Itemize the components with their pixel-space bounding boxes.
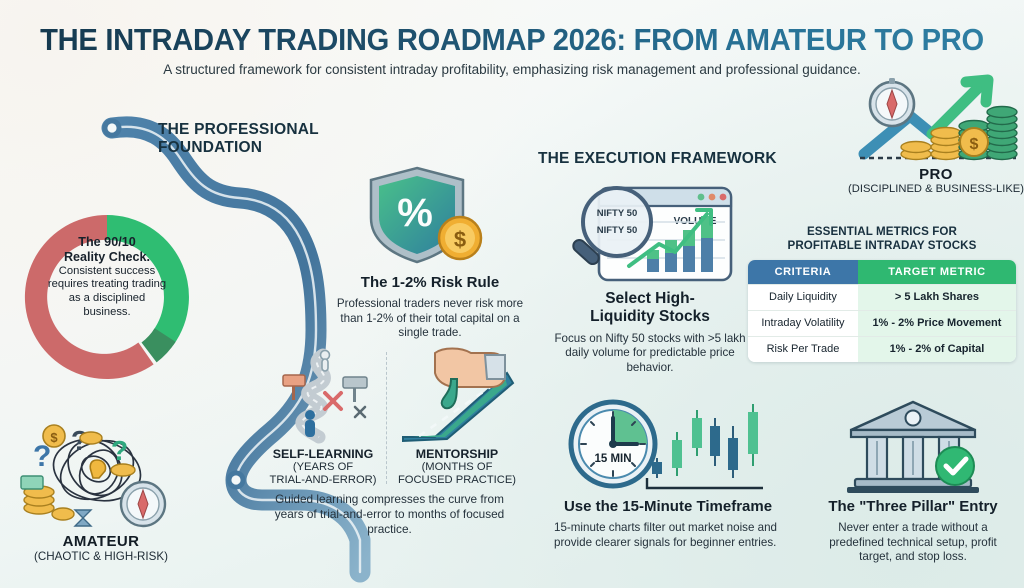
three-pillar-title: The "Three Pillar" Entry — [810, 498, 1016, 516]
reality-check-donut-chart: The 90/10 Reality Check. Consistent succ… — [12, 205, 202, 390]
dollar-glyph: $ — [454, 227, 466, 252]
three-pillar-body: Never enter a trade without a predefined… — [810, 521, 1016, 565]
metrics-table-heading: ESSENTIAL METRICS FOR PROFITABLE INTRADA… — [748, 225, 1016, 254]
clock-label: 15 MIN — [594, 453, 631, 465]
candlesticks — [652, 404, 758, 478]
maze-path-icon — [263, 345, 383, 445]
card-mentorship: MENTORSHIP (MONTHS OF FOCUSED PRACTICE) — [392, 345, 522, 488]
magnifier-chart-icon: VOLUME NIFTY 50 NIFTY 50 — [555, 178, 745, 288]
liquidity-title-line2: Liquidity Stocks — [540, 308, 760, 326]
cell-target: > 5 Lakh Shares — [858, 284, 1016, 310]
mentorship-sub-line2: FOCUSED PRACTICE) — [392, 474, 522, 487]
timeframe-body: 15-minute charts filter out market noise… — [548, 521, 788, 551]
infographic-canvas: THE INTRADAY TRADING ROADMAP 2026: FROM … — [0, 0, 1024, 588]
metrics-heading-line1: ESSENTIAL METRICS FOR — [748, 225, 1016, 239]
nifty-label-2: NIFTY 50 — [597, 225, 637, 236]
donut-center-text: The 90/10 Reality Check. Consistent succ… — [46, 235, 168, 319]
foundation-heading-line1: THE PROFESSIONAL — [158, 121, 358, 139]
coin-stack-green-2 — [987, 107, 1017, 160]
donut-title-line1: The 90/10 — [46, 235, 168, 250]
cell-criteria: Intraday Volatility — [748, 310, 858, 336]
liquidity-body: Focus on Nifty 50 stocks with >5 lakh da… — [540, 332, 760, 376]
coin-stack-icon — [24, 486, 54, 514]
guiding-hand-road-icon — [395, 345, 520, 445]
mentorship-sub: (MONTHS OF FOCUSED PRACTICE) — [392, 461, 522, 488]
clock-candlestick-icon: 15 MIN — [563, 396, 773, 496]
column-header-target: TARGET METRIC — [858, 260, 1016, 284]
cell-criteria: Daily Liquidity — [748, 284, 858, 310]
timeframe-title: Use the 15-Minute Timeframe — [548, 498, 788, 516]
table-row: Daily Liquidity > 5 Lakh Shares — [748, 284, 1016, 310]
stage-pro: $ PRO (DISCIPLINED & BUSINESS-LIKE) — [848, 72, 1024, 195]
growth-coins-compass-icon: $ — [848, 72, 1024, 168]
donut-title-line2: Reality Check. — [46, 250, 168, 265]
card-timeframe: 15 MIN Use the 15-Minute Timeframe 15-mi… — [548, 396, 788, 550]
card-three-pillar: The "Three Pillar" Entry Never enter a t… — [810, 396, 1016, 565]
card-self-learning: SELF-LEARNING (YEARS OF TRIAL-AND-ERROR) — [258, 345, 388, 488]
stage-amateur: ? ? ? $ AMATEUR (CHAOTIC & HIGH-RISK) — [6, 408, 196, 563]
pro-label: PRO — [848, 166, 1024, 183]
banknote-icon — [21, 476, 43, 489]
card-liquidity: VOLUME NIFTY 50 NIFTY 50 Select High- Li… — [540, 178, 760, 376]
risk-rule-body: Professional traders never risk more tha… — [322, 297, 538, 341]
hourglass-icon — [75, 510, 91, 518]
column-header-criteria: CRITERIA — [748, 260, 858, 284]
cell-target: 1% - 2% Price Movement — [858, 310, 1016, 336]
amateur-label: AMATEUR — [6, 533, 196, 550]
chaos-scribble-icon: ? ? ? $ — [11, 408, 191, 533]
bank-check-icon — [833, 396, 993, 496]
shield-percent-icon: % $ — [355, 160, 505, 270]
risk-rule-title: The 1-2% Risk Rule — [322, 274, 538, 292]
mentorship-sub-line1: (MONTHS OF — [392, 461, 522, 474]
magnifier-lens — [583, 188, 651, 256]
nifty-label-1: NIFTY 50 — [597, 208, 637, 219]
cell-target: 1% - 2% of Capital — [858, 336, 1016, 362]
card-risk-rule: % $ The 1-2% Risk Rule Professional trad… — [322, 160, 538, 341]
self-learning-label: SELF-LEARNING — [258, 447, 388, 461]
cell-criteria: Risk Per Trade — [748, 336, 858, 362]
coin-dollar-icon: $ — [50, 430, 58, 445]
self-learning-sub-line1: (YEARS OF — [258, 461, 388, 474]
section-heading-foundation: THE PROFESSIONAL FOUNDATION — [158, 121, 358, 158]
self-learning-sub: (YEARS OF TRIAL-AND-ERROR) — [258, 461, 388, 488]
check-badge-icon — [936, 447, 974, 485]
coin-dollar-icon: $ — [970, 136, 979, 153]
amateur-sublabel: (CHAOTIC & HIGH-RISK) — [6, 550, 196, 563]
coin-stack-small — [901, 142, 931, 160]
section-heading-execution: THE EXECUTION FRAMEWORK — [538, 150, 777, 168]
metrics-table: CRITERIA TARGET METRIC Daily Liquidity >… — [748, 260, 1016, 362]
metrics-heading-line2: PROFITABLE INTRADAY STOCKS — [748, 239, 1016, 253]
coin-stack-medium — [931, 128, 961, 160]
learning-divider — [386, 352, 387, 484]
donut-body: Consistent success requires treating tra… — [48, 265, 166, 318]
question-mark-icon: ? — [111, 435, 128, 466]
liquidity-title-line1: Select High- — [540, 290, 760, 308]
metrics-table-block: ESSENTIAL METRICS FOR PROFITABLE INTRADA… — [748, 225, 1016, 362]
table-row: Risk Per Trade 1% - 2% of Capital — [748, 336, 1016, 362]
percent-glyph: % — [397, 191, 433, 235]
pro-sublabel: (DISCIPLINED & BUSINESS-LIKE) — [848, 183, 1024, 195]
mentorship-label: MENTORSHIP — [392, 447, 522, 461]
table-header-row: CRITERIA TARGET METRIC — [748, 260, 1016, 284]
self-learning-sub-line2: TRIAL-AND-ERROR) — [258, 474, 388, 487]
table-row: Intraday Volatility 1% - 2% Price Moveme… — [748, 310, 1016, 336]
liquidity-title: Select High- Liquidity Stocks — [540, 290, 760, 327]
learning-caption: Guided learning compresses the curve fro… — [262, 492, 517, 537]
foundation-heading-line2: FOUNDATION — [158, 139, 358, 157]
